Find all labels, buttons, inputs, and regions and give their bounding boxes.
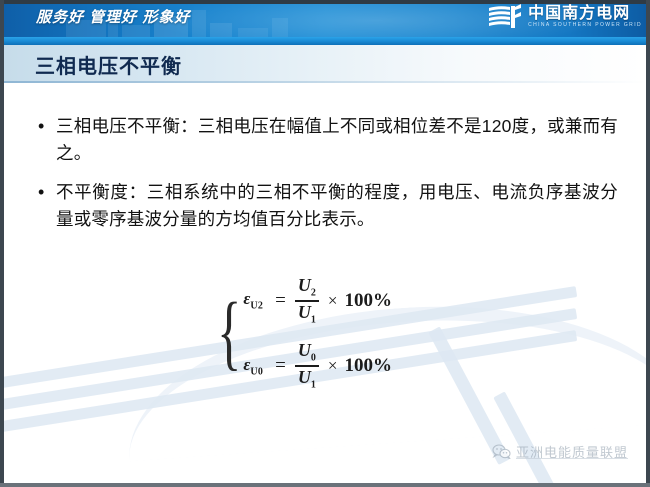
slide-frame-right (646, 0, 650, 487)
csg-logo-english-name: CHINA SOUTHERN POWER GRID (528, 22, 642, 29)
csg-logo-chinese-name: 中国南方电网 (528, 5, 630, 22)
wechat-icon (492, 444, 511, 459)
bullet-marker: • (38, 113, 56, 140)
formula-brace: { (217, 296, 241, 370)
fraction: U0 U1 (295, 340, 319, 391)
slide-body: • 三相电压不平衡：三相电压在幅值上不同或相位差不是120度，或兼而有之。 • … (4, 83, 646, 483)
factor-value: 100 (344, 290, 373, 312)
epsilon-subscript: U2 (250, 301, 263, 312)
presentation-slide: 服务好 管理好 形象好 中国南方电网 CHINA SOUTHERN POWER … (0, 0, 650, 487)
fraction-numerator: U0 (295, 340, 319, 365)
percent-sign: % (373, 290, 392, 312)
denominator-symbol: U (298, 367, 311, 387)
denominator-symbol: U (298, 302, 311, 322)
fraction-numerator: U2 (295, 275, 319, 300)
equation-lhs: εU2 (243, 289, 263, 311)
slide-title: 三相电压不平衡 (35, 50, 182, 79)
percent-sign: % (373, 355, 392, 377)
list-item: • 不平衡度：三相系统中的三相不平衡的程度，用电压、电流负序基波分量或零序基波分… (38, 179, 618, 233)
denominator-subscript: 1 (311, 314, 316, 325)
bullet-text: 三相电压不平衡：三相电压在幅值上不同或相位差不是120度，或兼而有之。 (56, 113, 618, 167)
fraction: U2 U1 (295, 275, 319, 326)
slide-frame-bottom (0, 483, 650, 487)
watermark-text: 亚洲电能质量联盟 (516, 442, 628, 461)
numerator-symbol: U (298, 275, 311, 295)
list-item: • 三相电压不平衡：三相电压在幅值上不同或相位差不是120度，或兼而有之。 (38, 113, 618, 167)
denominator-subscript: 1 (311, 379, 316, 390)
bullet-marker: • (38, 179, 56, 206)
factor-value: 100 (344, 355, 373, 377)
csg-logo: 中国南方电网 CHINA SOUTHERN POWER GRID (488, 4, 642, 30)
bullet-text: 不平衡度：三相系统中的三相不平衡的程度，用电压、电流负序基波分量或零序基波分量的… (56, 179, 618, 233)
fraction-denominator: U1 (295, 302, 319, 327)
epsilon-subscript: U0 (250, 366, 263, 377)
multiplication-sign: × (328, 291, 338, 311)
equation-unbalance-negative-sequence: εU2 = U2 U1 × 100 % (243, 275, 392, 326)
fraction-denominator: U1 (295, 367, 319, 392)
slide-frame-top (0, 0, 650, 4)
formula-block: { εU2 = U2 U1 × 100 % εU0 = (209, 275, 392, 391)
watermark: 亚洲电能质量联盟 (492, 442, 628, 461)
multiplication-sign: × (328, 356, 338, 376)
numerator-subscript: 0 (311, 353, 316, 364)
equals-sign: = (275, 355, 286, 377)
bullet-list: • 三相电压不平衡：三相电压在幅值上不同或相位差不是120度，或兼而有之。 • … (38, 113, 618, 245)
equation-unbalance-zero-sequence: εU0 = U0 U1 × 100 % (243, 340, 392, 391)
formula-equations: εU2 = U2 U1 × 100 % εU0 = U0 (243, 275, 392, 391)
numerator-symbol: U (298, 340, 311, 360)
csg-logo-text: 中国南方电网 CHINA SOUTHERN POWER GRID (528, 5, 642, 29)
slide-frame-left (0, 0, 4, 487)
header-slogan: 服务好 管理好 形象好 (36, 6, 190, 27)
equals-sign: = (275, 290, 286, 312)
equation-lhs: εU0 (243, 355, 263, 377)
numerator-subscript: 2 (311, 288, 316, 299)
csg-logo-icon (488, 4, 522, 30)
header-accent-strip (4, 37, 646, 45)
